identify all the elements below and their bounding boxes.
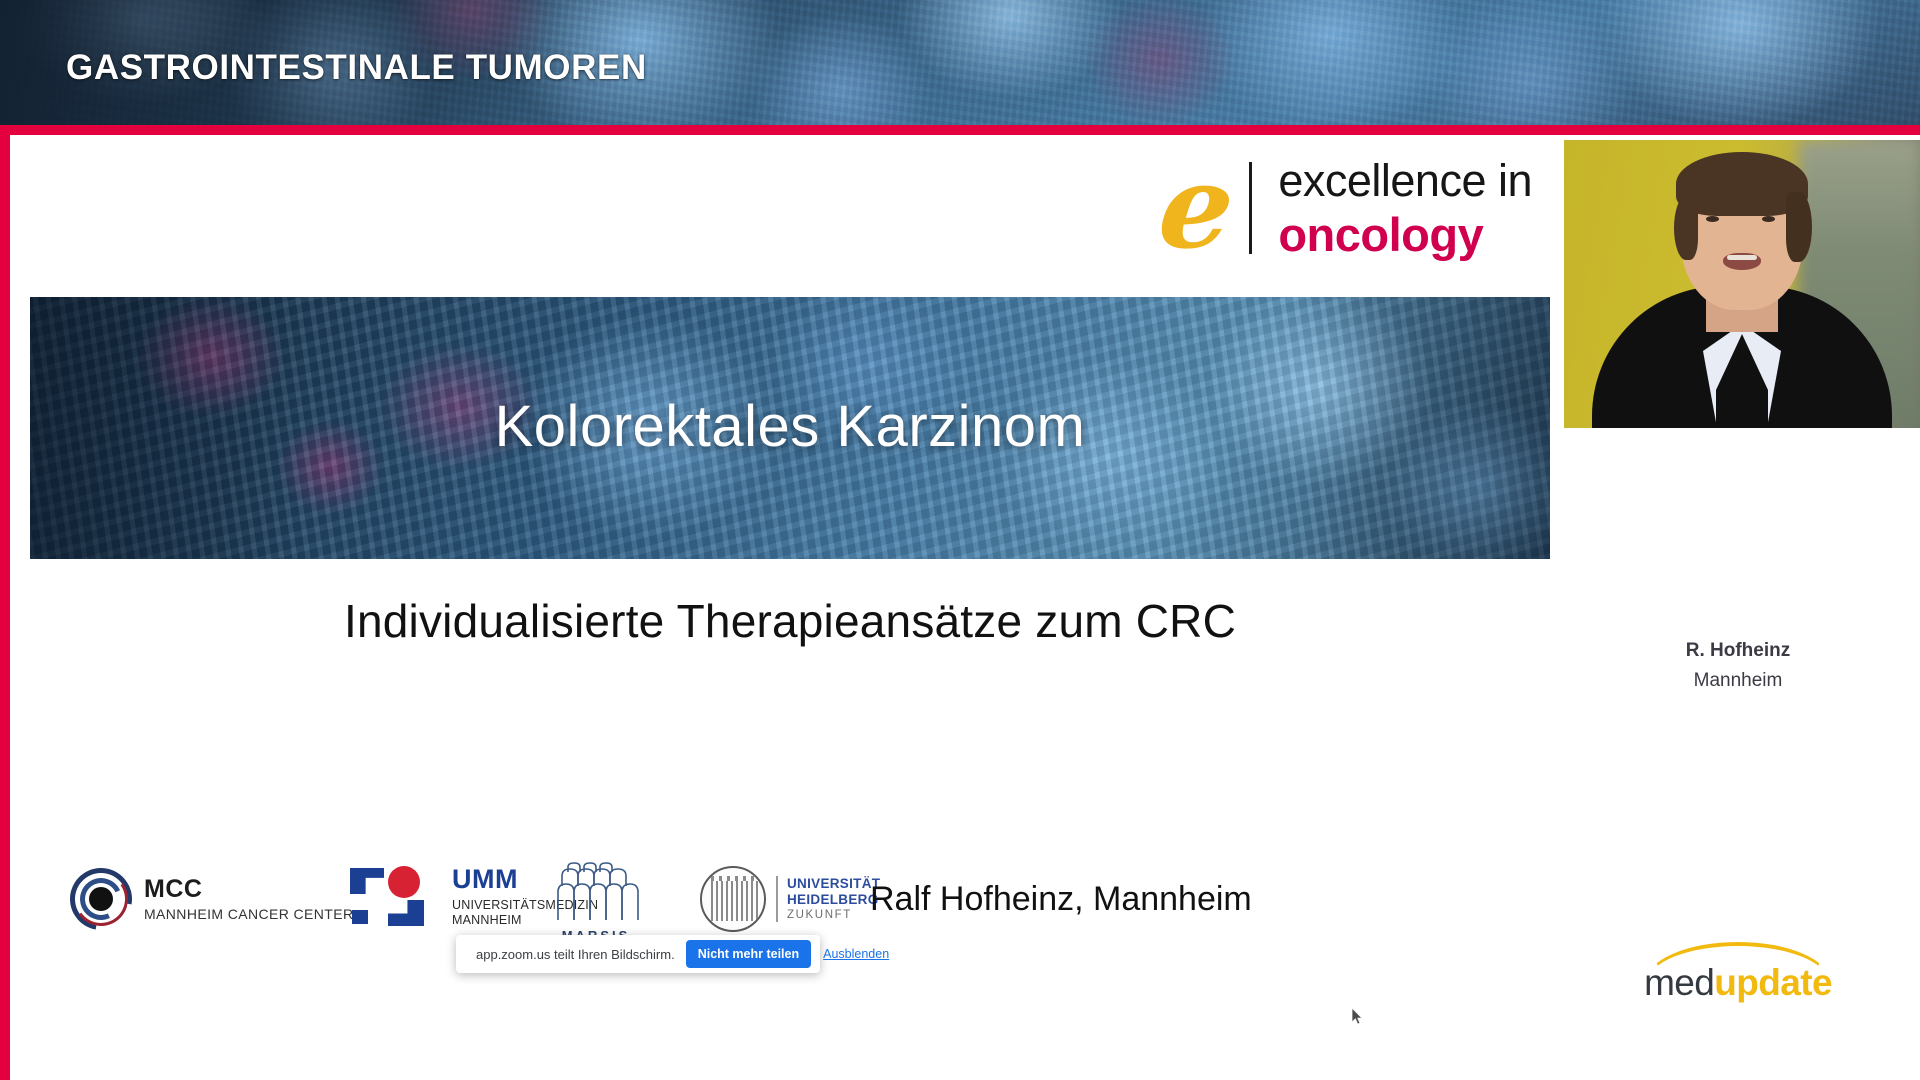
umm-shapes-icon [350, 866, 442, 928]
eio-line-excellence: excellence in [1278, 158, 1532, 203]
heidelberg-seal-icon [700, 866, 766, 932]
eio-line-oncology: oncology [1278, 211, 1532, 258]
hide-notification-link[interactable]: Ausblenden [823, 947, 889, 961]
heidelberg-line2: HEIDELBERG [787, 892, 880, 908]
heidelberg-divider [776, 876, 778, 922]
slide-presenter: Ralf Hofheinz, Mannheim [870, 880, 1252, 919]
stop-sharing-button[interactable]: Nicht mehr teilen [686, 940, 811, 968]
medupdate-part-update: update [1714, 962, 1832, 1003]
heidelberg-line3: ZUKUNFT [787, 908, 880, 922]
share-status-text: app.zoom.us teilt Ihren Bildschirm. [476, 947, 675, 962]
slide-hero-title: Kolorektales Karzinom [30, 393, 1550, 460]
slide-hero-image: Kolorektales Karzinom [30, 297, 1550, 559]
event-banner: GASTROINTESTINALE TUMOREN [0, 0, 1920, 125]
screen-share-notification[interactable]: app.zoom.us teilt Ihren Bildschirm. Nich… [456, 935, 820, 973]
participant-panel: R. Hofheinz Mannheim medupdate [1556, 135, 1920, 1080]
logo-uni-heidelberg: UNIVERSITÄT HEIDELBERG ZUKUNFT [700, 866, 880, 932]
shared-slide[interactable]: e excellence in oncology Kolorektales Ka… [30, 142, 1550, 1022]
logo-mcc: MCC MANNHEIM CANCER CENTER [70, 868, 353, 930]
medupdate-part-med: med [1644, 962, 1714, 1003]
eio-divider [1249, 162, 1252, 254]
screen-share-view: GASTROINTESTINALE TUMOREN e excellence i… [0, 0, 1920, 1080]
mcc-acronym: MCC [144, 877, 353, 902]
eio-script-e-icon: e [1155, 158, 1251, 258]
accent-bar-left [0, 135, 10, 1080]
mcc-full-name: MANNHEIM CANCER CENTER [144, 906, 353, 922]
speaker-figure [1564, 140, 1920, 428]
accent-bar-top [0, 125, 1920, 135]
logo-marsis: MARSIS [550, 862, 642, 943]
speaker-city: Mannheim [1556, 670, 1920, 692]
slide-subtitle: Individualisierte Therapieansätze zum CR… [30, 594, 1550, 648]
excellence-in-oncology-logo: e excellence in oncology [1160, 158, 1532, 258]
heidelberg-line1: UNIVERSITÄT [787, 876, 880, 892]
event-title: GASTROINTESTINALE TUMOREN [66, 48, 647, 88]
speaker-video-tile[interactable] [1564, 140, 1920, 428]
mcc-rings-icon [70, 868, 132, 930]
slide-header: e excellence in oncology [30, 142, 1550, 297]
mesh-network-icon [550, 862, 642, 924]
speaker-name: R. Hofheinz [1556, 640, 1920, 662]
medupdate-logo: medupdate [1640, 940, 1836, 1014]
eio-wordmark: excellence in oncology [1278, 158, 1532, 258]
